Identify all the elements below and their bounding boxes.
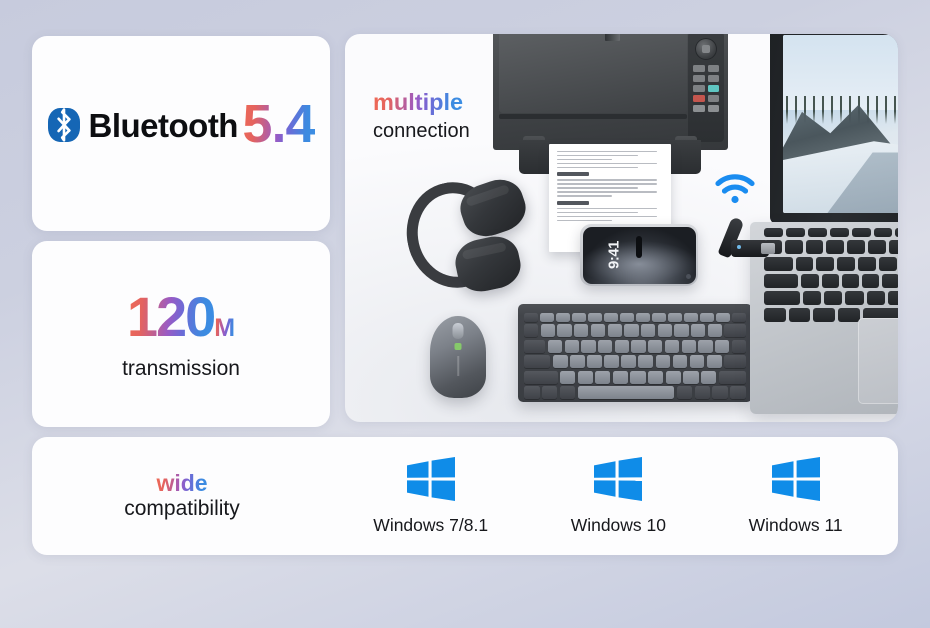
- printer-device: [493, 34, 728, 188]
- printer-button-grid: [693, 65, 719, 112]
- photo-panel: multiple connection: [345, 34, 898, 422]
- windows-logo-icon: [405, 457, 457, 501]
- transmission-unit: M: [214, 314, 235, 343]
- compatibility-subtitle: compatibility: [32, 496, 332, 522]
- transmission-value: 120: [127, 289, 214, 345]
- os-name-label: Windows 7/8.1: [373, 515, 488, 536]
- transmission-range-card: 120M transmission: [32, 241, 330, 427]
- bluetooth-logo-icon: [48, 108, 80, 142]
- printer-dpad-icon: [695, 38, 717, 60]
- smartphone-device: 9:41: [580, 224, 698, 286]
- smartphone-notch: [636, 236, 642, 258]
- laptop-keyboard-row: [764, 228, 898, 237]
- headphones-device: [403, 176, 533, 296]
- keyboard-row: [524, 355, 746, 368]
- keyboard-row: [524, 313, 746, 322]
- transmission-value-row: 120M: [32, 289, 330, 345]
- laptop-lid: [770, 34, 898, 224]
- laptop-keyboard-row: [764, 274, 898, 288]
- smartphone-camera-icon: [686, 274, 691, 279]
- dongle-usb-connector: [761, 243, 775, 254]
- mouse-seam: [457, 356, 459, 376]
- bluetooth-brand-label: Bluetooth: [89, 109, 238, 142]
- laptop-keyboard-row: [764, 240, 898, 254]
- promo-graphic: multiple connection: [0, 0, 930, 628]
- smartphone-clock: 9:41: [605, 241, 622, 269]
- compatibility-caption: wide compatibility: [32, 470, 332, 523]
- os-item-windows-11: Windows 11: [749, 457, 843, 536]
- os-name-label: Windows 11: [749, 515, 843, 536]
- compatibility-keyword: wide: [156, 470, 207, 496]
- laptop-keyboard-row: [764, 257, 898, 271]
- bluetooth-brand-row: Bluetooth: [48, 108, 238, 142]
- usb-dongle-device: [717, 216, 779, 262]
- caption-keyword: multiple: [373, 88, 463, 116]
- supported-os-list: Windows 7/8.1 Windows 10 Windo: [332, 457, 898, 536]
- keyboard-row: [524, 340, 746, 353]
- caption-subtitle: connection: [373, 118, 470, 144]
- smartphone-screen: 9:41: [583, 227, 696, 284]
- windows-logo-icon: [770, 457, 822, 501]
- transmission-card-content: 120M transmission: [32, 289, 330, 381]
- wireless-mouse-device: [430, 316, 486, 398]
- os-name-label: Windows 10: [571, 515, 666, 536]
- dongle-led-icon: [737, 245, 741, 249]
- printer-lid-seam: [499, 114, 687, 119]
- keyboard-row: [524, 386, 746, 399]
- os-item-windows-7-81: Windows 7/8.1: [373, 457, 488, 536]
- laptop-screen-wallpaper: [783, 35, 898, 213]
- photo-caption: multiple connection: [373, 88, 470, 144]
- printer-sensor: [605, 34, 620, 41]
- bluetooth-version-card: Bluetooth 5.4: [32, 36, 330, 231]
- printer-lid: [499, 34, 687, 113]
- keyboard-row: [524, 371, 746, 384]
- bluetooth-card-content: Bluetooth 5.4: [32, 88, 330, 153]
- bluetooth-version-value: 5.4: [242, 96, 314, 153]
- windows-logo-icon: [592, 457, 644, 501]
- laptop-trackpad: [858, 318, 898, 404]
- transmission-label: transmission: [32, 357, 330, 381]
- printer-control-panel: [688, 34, 724, 142]
- laptop-keyboard-row: [764, 291, 898, 305]
- laptop-keyboard: [764, 228, 898, 322]
- os-item-windows-10: Windows 10: [571, 457, 666, 536]
- wifi-icon: [714, 173, 756, 205]
- wireless-keyboard-device: [518, 304, 752, 402]
- keyboard-row: [524, 324, 746, 337]
- compatibility-card: wide compatibility Windows 7/8.1: [32, 437, 898, 555]
